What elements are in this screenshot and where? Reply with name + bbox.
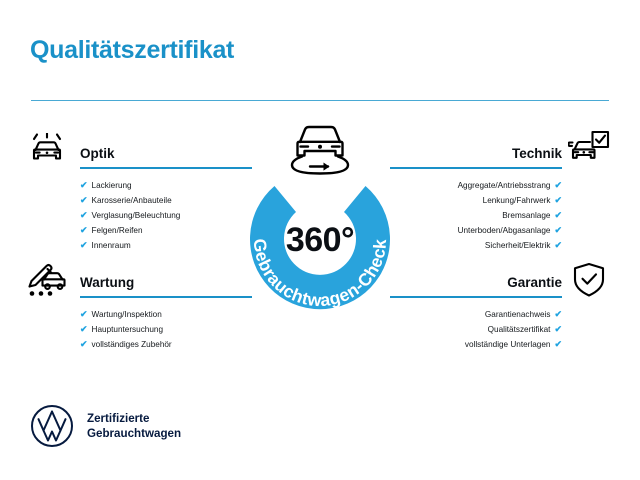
- list-item-label: Lenkung/Fahrwerk: [483, 196, 551, 205]
- section-divider-wartung: [80, 296, 252, 298]
- section-list-optik: ✔Lackierung ✔Karosserie/Anbauteile ✔Verg…: [80, 178, 252, 254]
- section-list-garantie: Garantienachweis✔ Qualitätszertifikat✔ v…: [390, 307, 562, 353]
- list-item: ✔Verglasung/Beleuchtung: [80, 208, 252, 223]
- list-item-label: Hauptuntersuchung: [92, 325, 163, 334]
- section-technik: Technik Aggregate/Antriebsstrang✔ Lenkun…: [390, 146, 562, 254]
- list-item: Garantienachweis✔: [390, 307, 562, 322]
- footer-line-1: Zertifizierte: [87, 411, 181, 426]
- shield-check-icon: [572, 262, 606, 303]
- badge-center-label: 360°: [286, 221, 354, 259]
- list-item: Lenkung/Fahrwerk✔: [390, 193, 562, 208]
- list-item: ✔vollständiges Zubehör: [80, 337, 252, 352]
- list-item-label: vollständige Unterlagen: [465, 340, 551, 349]
- list-item-label: Garantienachweis: [485, 310, 551, 319]
- list-item: Bremsanlage✔: [390, 208, 562, 223]
- check-icon: ✔: [80, 210, 88, 220]
- list-item-label: Karosserie/Anbauteile: [92, 196, 172, 205]
- list-item: Aggregate/Antriebsstrang✔: [390, 178, 562, 193]
- section-wartung: Wartung ✔Wartung/Inspektion ✔Hauptunters…: [80, 275, 252, 352]
- check-icon: ✔: [554, 324, 562, 334]
- list-item: Unterboden/Abgasanlage✔: [390, 223, 562, 238]
- list-item-label: Aggregate/Antriebsstrang: [458, 181, 551, 190]
- section-heading-wartung: Wartung: [80, 275, 252, 291]
- list-item: vollständige Unterlagen✔: [390, 337, 562, 352]
- list-item: ✔Wartung/Inspektion: [80, 307, 252, 322]
- page-title: Qualitätszertifikat: [30, 36, 234, 65]
- list-item: ✔Karosserie/Anbauteile: [80, 193, 252, 208]
- check-icon: ✔: [80, 339, 88, 349]
- section-heading-garantie: Garantie: [390, 275, 562, 291]
- section-list-technik: Aggregate/Antriebsstrang✔ Lenkung/Fahrwe…: [390, 178, 562, 254]
- check-icon: ✔: [554, 210, 562, 220]
- list-item: ✔Hauptuntersuchung: [80, 322, 252, 337]
- check-icon: ✔: [80, 225, 88, 235]
- list-item-label: Sicherheit/Elektrik: [485, 241, 551, 250]
- check-icon: ✔: [554, 195, 562, 205]
- 360-check-badge: Gebrauchtwagen-Check 360°: [232, 152, 408, 328]
- section-garantie: Garantie Garantienachweis✔ Qualitätszert…: [390, 275, 562, 352]
- section-divider-optik: [80, 167, 252, 169]
- check-icon: ✔: [554, 309, 562, 319]
- car-checkbox-icon: [568, 130, 610, 171]
- section-heading-technik: Technik: [390, 146, 562, 162]
- list-item-label: vollständiges Zubehör: [92, 340, 172, 349]
- list-item-label: Unterboden/Abgasanlage: [458, 226, 551, 235]
- section-list-wartung: ✔Wartung/Inspektion ✔Hauptuntersuchung ✔…: [80, 307, 252, 353]
- list-item-label: Verglasung/Beleuchtung: [92, 211, 181, 220]
- check-icon: ✔: [80, 324, 88, 334]
- list-item-label: Bremsanlage: [502, 211, 550, 220]
- check-icon: ✔: [554, 225, 562, 235]
- section-divider-technik: [390, 167, 562, 169]
- section-optik: Optik ✔Lackierung ✔Karosserie/Anbauteile…: [80, 146, 252, 254]
- check-icon: ✔: [80, 309, 88, 319]
- list-item: ✔Felgen/Reifen: [80, 223, 252, 238]
- section-divider-garantie: [390, 296, 562, 298]
- car-front-rotation-icon: [272, 122, 368, 178]
- list-item-label: Innenraum: [92, 241, 131, 250]
- quality-certificate-page: Qualitätszertifikat: [0, 0, 640, 480]
- vw-logo: [30, 404, 74, 448]
- check-icon: ✔: [80, 180, 88, 190]
- check-icon: ✔: [80, 195, 88, 205]
- list-item-label: Felgen/Reifen: [92, 226, 143, 235]
- list-item: Qualitätszertifikat✔: [390, 322, 562, 337]
- footer-line-2: Gebrauchtwagen: [87, 426, 181, 441]
- check-icon: ✔: [554, 180, 562, 190]
- list-item-label: Wartung/Inspektion: [92, 310, 162, 319]
- wrench-car-icon: [26, 262, 68, 303]
- list-item-label: Lackierung: [92, 181, 132, 190]
- title-divider: [31, 100, 609, 101]
- check-icon: ✔: [554, 339, 562, 349]
- footer-text: Zertifizierte Gebrauchtwagen: [87, 411, 181, 441]
- list-item-label: Qualitätszertifikat: [488, 325, 551, 334]
- list-item: ✔Lackierung: [80, 178, 252, 193]
- section-heading-optik: Optik: [80, 146, 252, 162]
- check-icon: ✔: [80, 240, 88, 250]
- footer-branding: Zertifizierte Gebrauchtwagen: [30, 404, 181, 448]
- list-item: Sicherheit/Elektrik✔: [390, 238, 562, 253]
- car-front-shine-icon: [28, 133, 66, 172]
- check-icon: ✔: [554, 240, 562, 250]
- list-item: ✔Innenraum: [80, 238, 252, 253]
